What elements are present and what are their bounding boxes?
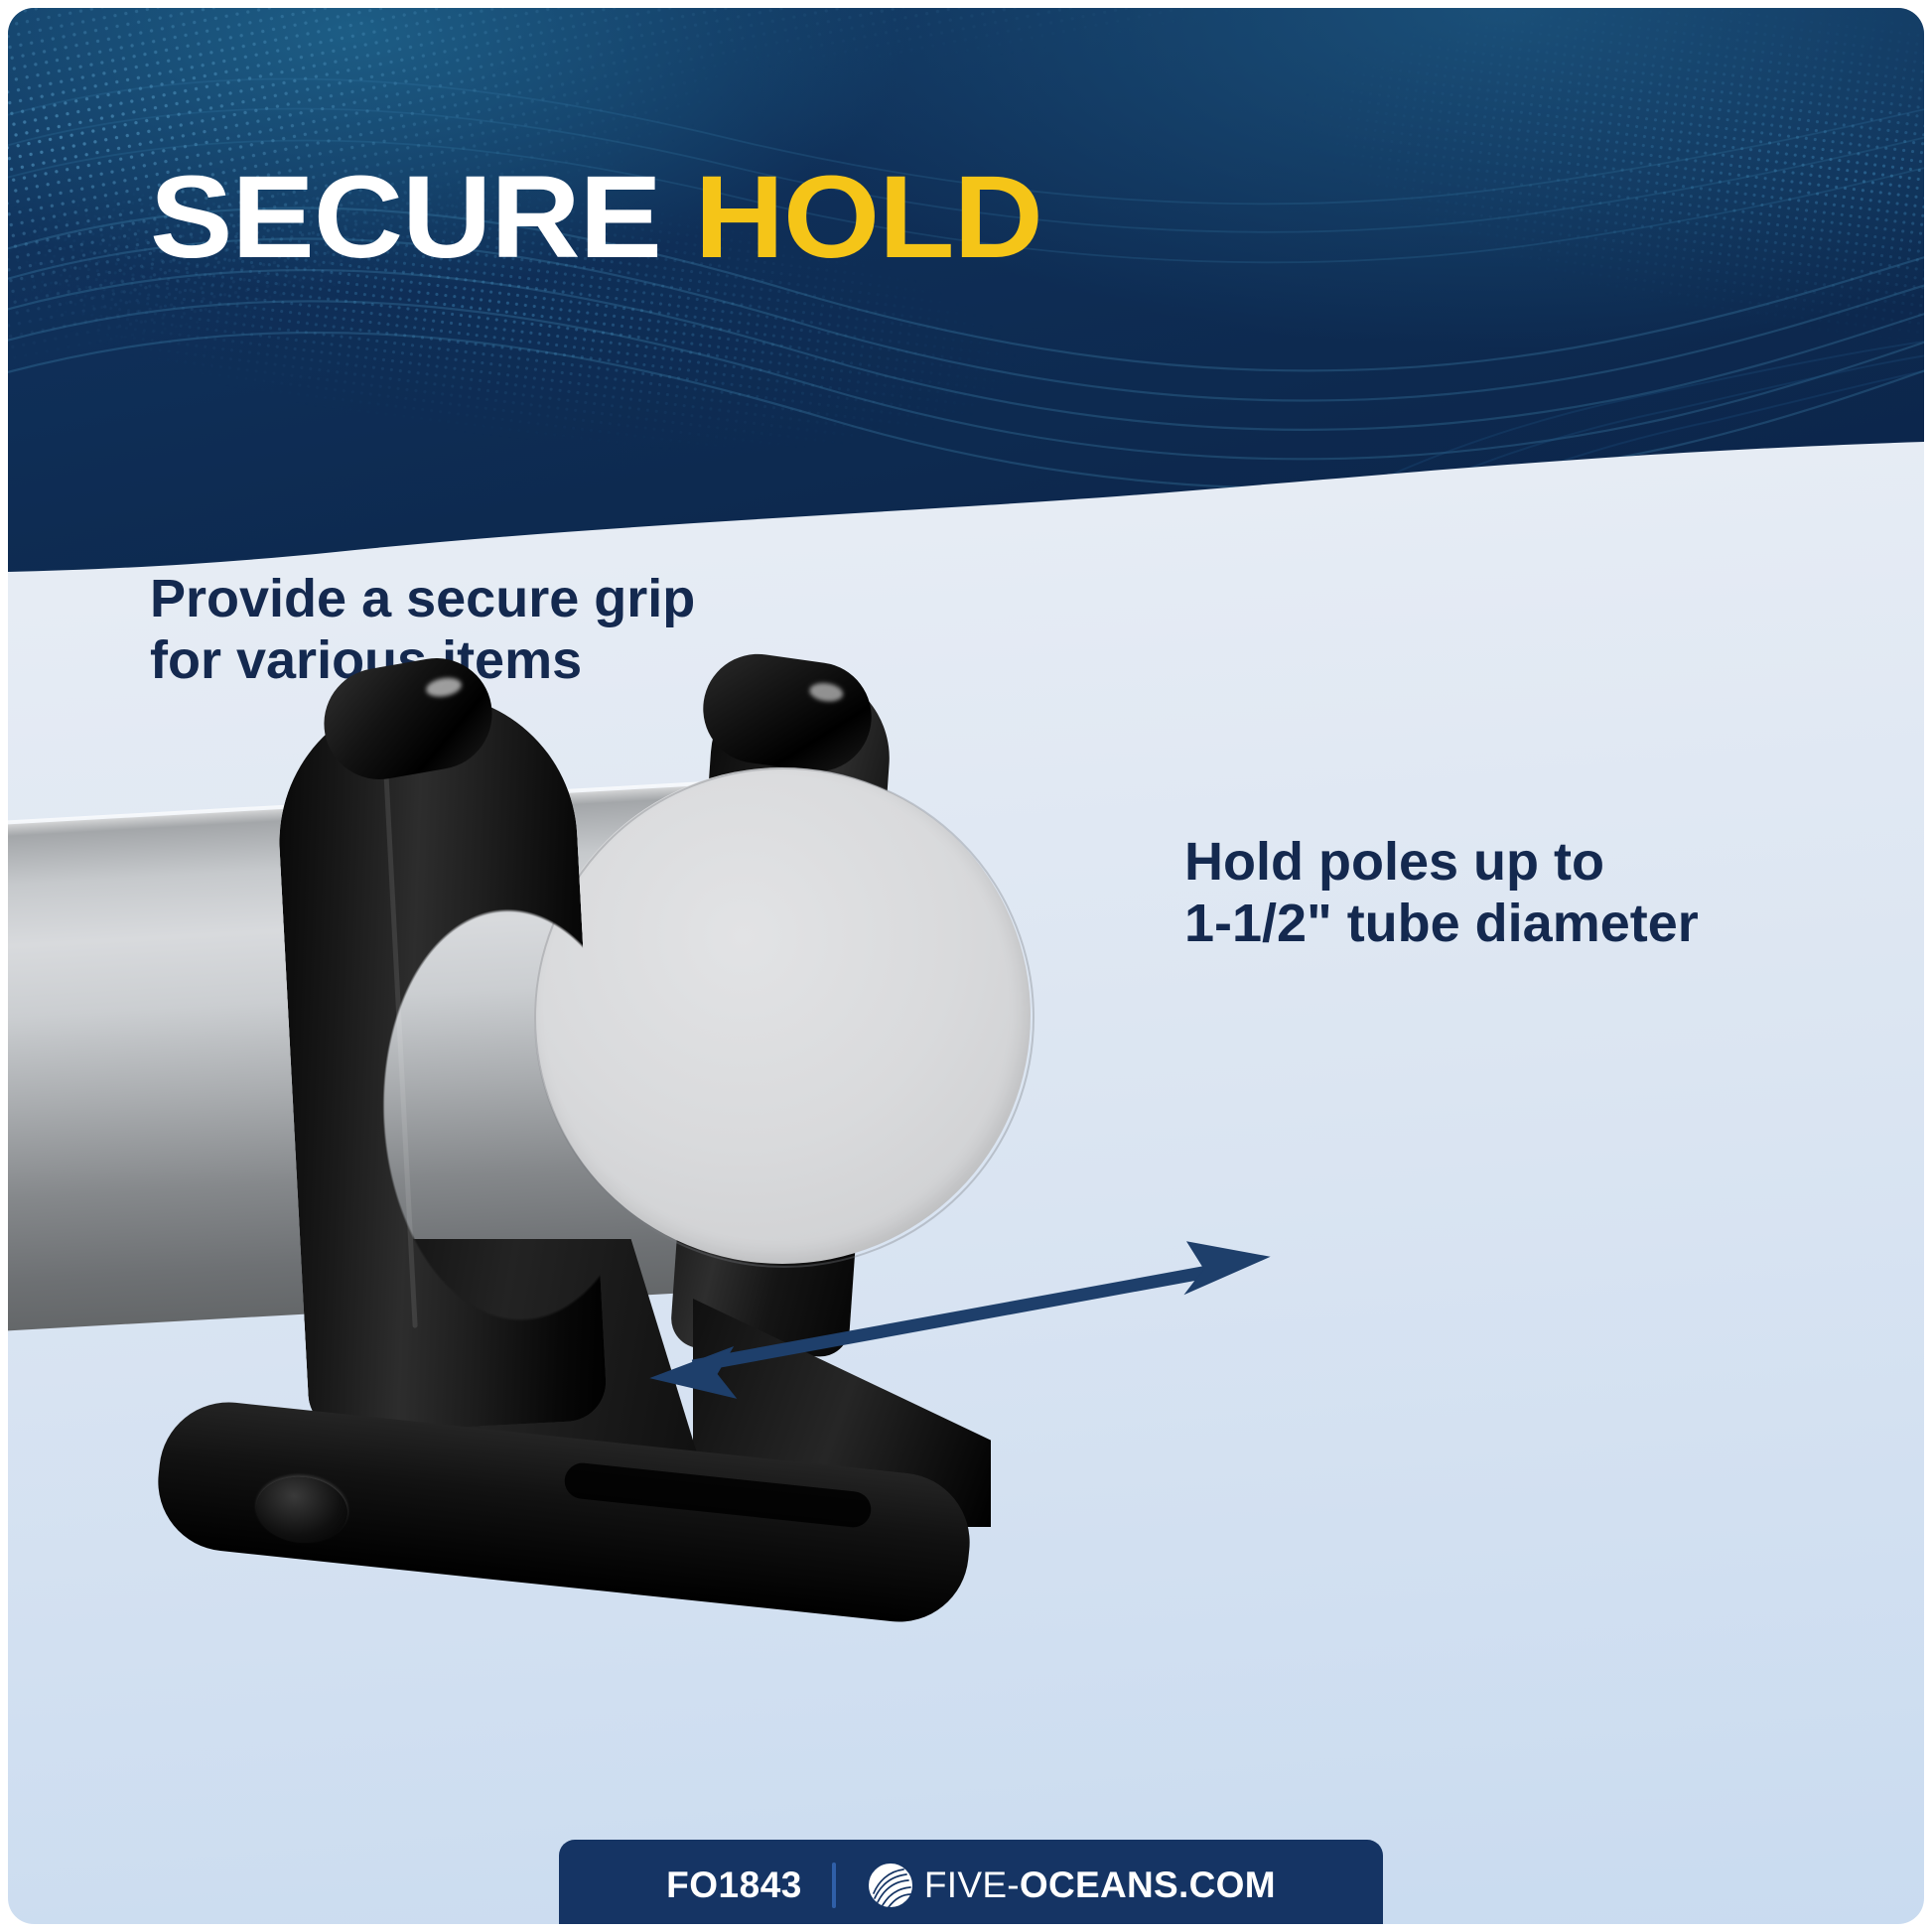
header-banner: SECURE HOLD — [8, 8, 1924, 604]
page-title: SECURE HOLD — [150, 159, 1042, 276]
brand-text-thin: FIVE- — [924, 1864, 1020, 1905]
shell-wave-logo-icon — [866, 1861, 915, 1910]
title-primary: SECURE — [150, 152, 661, 283]
wave-streak-lines-icon — [8, 8, 1924, 604]
product-sku: FO1843 — [666, 1864, 802, 1906]
product-photo — [8, 604, 1924, 1924]
pole-tube-end-rim — [534, 767, 1035, 1268]
product-feature-card: SECURE HOLD Provide a secure grip for va… — [8, 8, 1924, 1924]
brand-text: FIVE-OCEANS.COM — [924, 1864, 1276, 1906]
brand-lockup: FIVE-OCEANS.COM — [866, 1861, 1276, 1910]
brand-text-bold: OCEANS.COM — [1020, 1864, 1276, 1905]
title-highlight: HOLD — [695, 152, 1042, 283]
footer-bar: FO1843 FIVE-OCEANS.COM — [559, 1840, 1383, 1924]
footer-divider — [832, 1863, 836, 1908]
clamp-arm-front — [272, 686, 608, 1436]
